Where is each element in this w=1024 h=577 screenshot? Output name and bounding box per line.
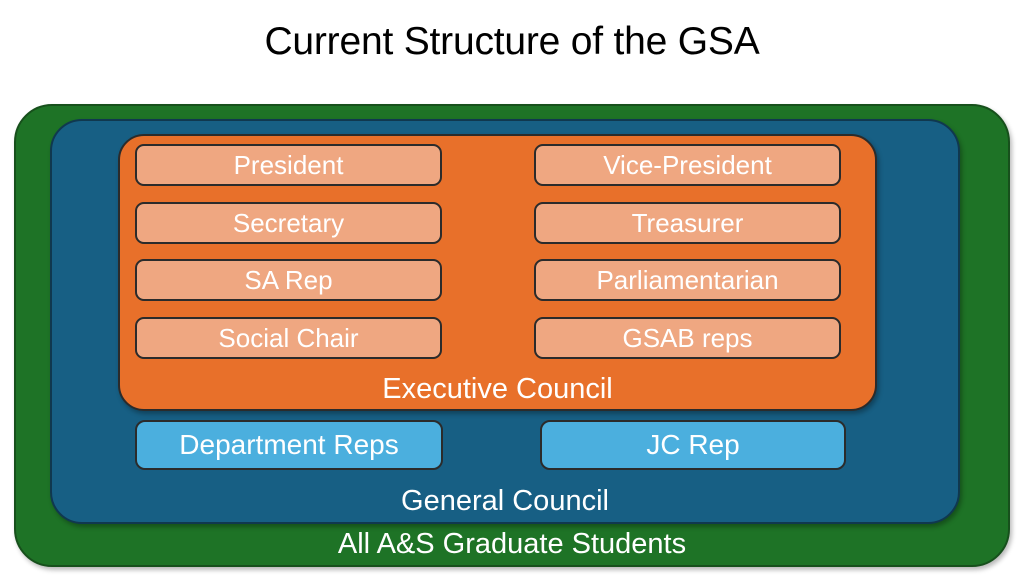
role-pill-president[interactable]: President	[135, 144, 442, 186]
page-title: Current Structure of the GSA	[0, 18, 1024, 66]
role-pill-treasurer[interactable]: Treasurer	[534, 202, 841, 244]
rep-pill-department-reps[interactable]: Department Reps	[135, 420, 443, 470]
role-pill-social-chair[interactable]: Social Chair	[135, 317, 442, 359]
executive-council-caption: Executive Council	[118, 372, 877, 406]
all-graduate-students-caption: All A&S Graduate Students	[14, 527, 1010, 561]
role-pill-sa-rep[interactable]: SA Rep	[135, 259, 442, 301]
role-pill-parliamentarian[interactable]: Parliamentarian	[534, 259, 841, 301]
rep-pill-jc-rep[interactable]: JC Rep	[540, 420, 846, 470]
general-council-caption: General Council	[50, 484, 960, 518]
role-pill-vice-president[interactable]: Vice-President	[534, 144, 841, 186]
role-pill-gsab-reps[interactable]: GSAB reps	[534, 317, 841, 359]
role-pill-secretary[interactable]: Secretary	[135, 202, 442, 244]
